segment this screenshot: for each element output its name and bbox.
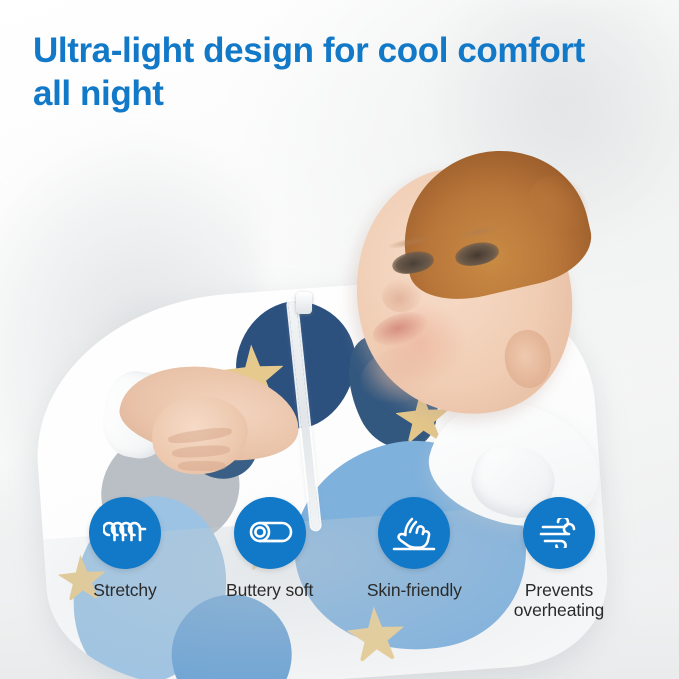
feature-label: Stretchy	[93, 580, 156, 600]
spring-coil-icon	[103, 518, 147, 548]
feature-icon-circle	[234, 497, 306, 569]
zipper-pull	[296, 292, 312, 314]
product-feature-poster: Ultra-light design for cool comfort all …	[0, 0, 679, 679]
hand-touch-icon	[392, 515, 436, 551]
feature-label: Skin-friendly	[367, 580, 462, 600]
feature-icon-circle	[89, 497, 161, 569]
feature-prevents-overheating: Prevents overheating	[492, 497, 626, 621]
feature-icon-circle	[378, 497, 450, 569]
feature-badge-list: Stretchy Buttery soft	[58, 497, 626, 621]
feature-icon-circle	[523, 497, 595, 569]
page-title: Ultra-light design for cool comfort all …	[33, 30, 593, 115]
feature-label: Prevents overheating	[492, 580, 626, 621]
feature-skin-friendly: Skin-friendly	[347, 497, 481, 600]
baby-finger	[178, 461, 226, 471]
rolled-fabric-icon	[247, 518, 293, 548]
feature-label: Buttery soft	[226, 580, 313, 600]
feature-buttery-soft: Buttery soft	[203, 497, 337, 600]
airflow-wind-icon	[537, 518, 581, 548]
feature-stretchy: Stretchy	[58, 497, 192, 600]
